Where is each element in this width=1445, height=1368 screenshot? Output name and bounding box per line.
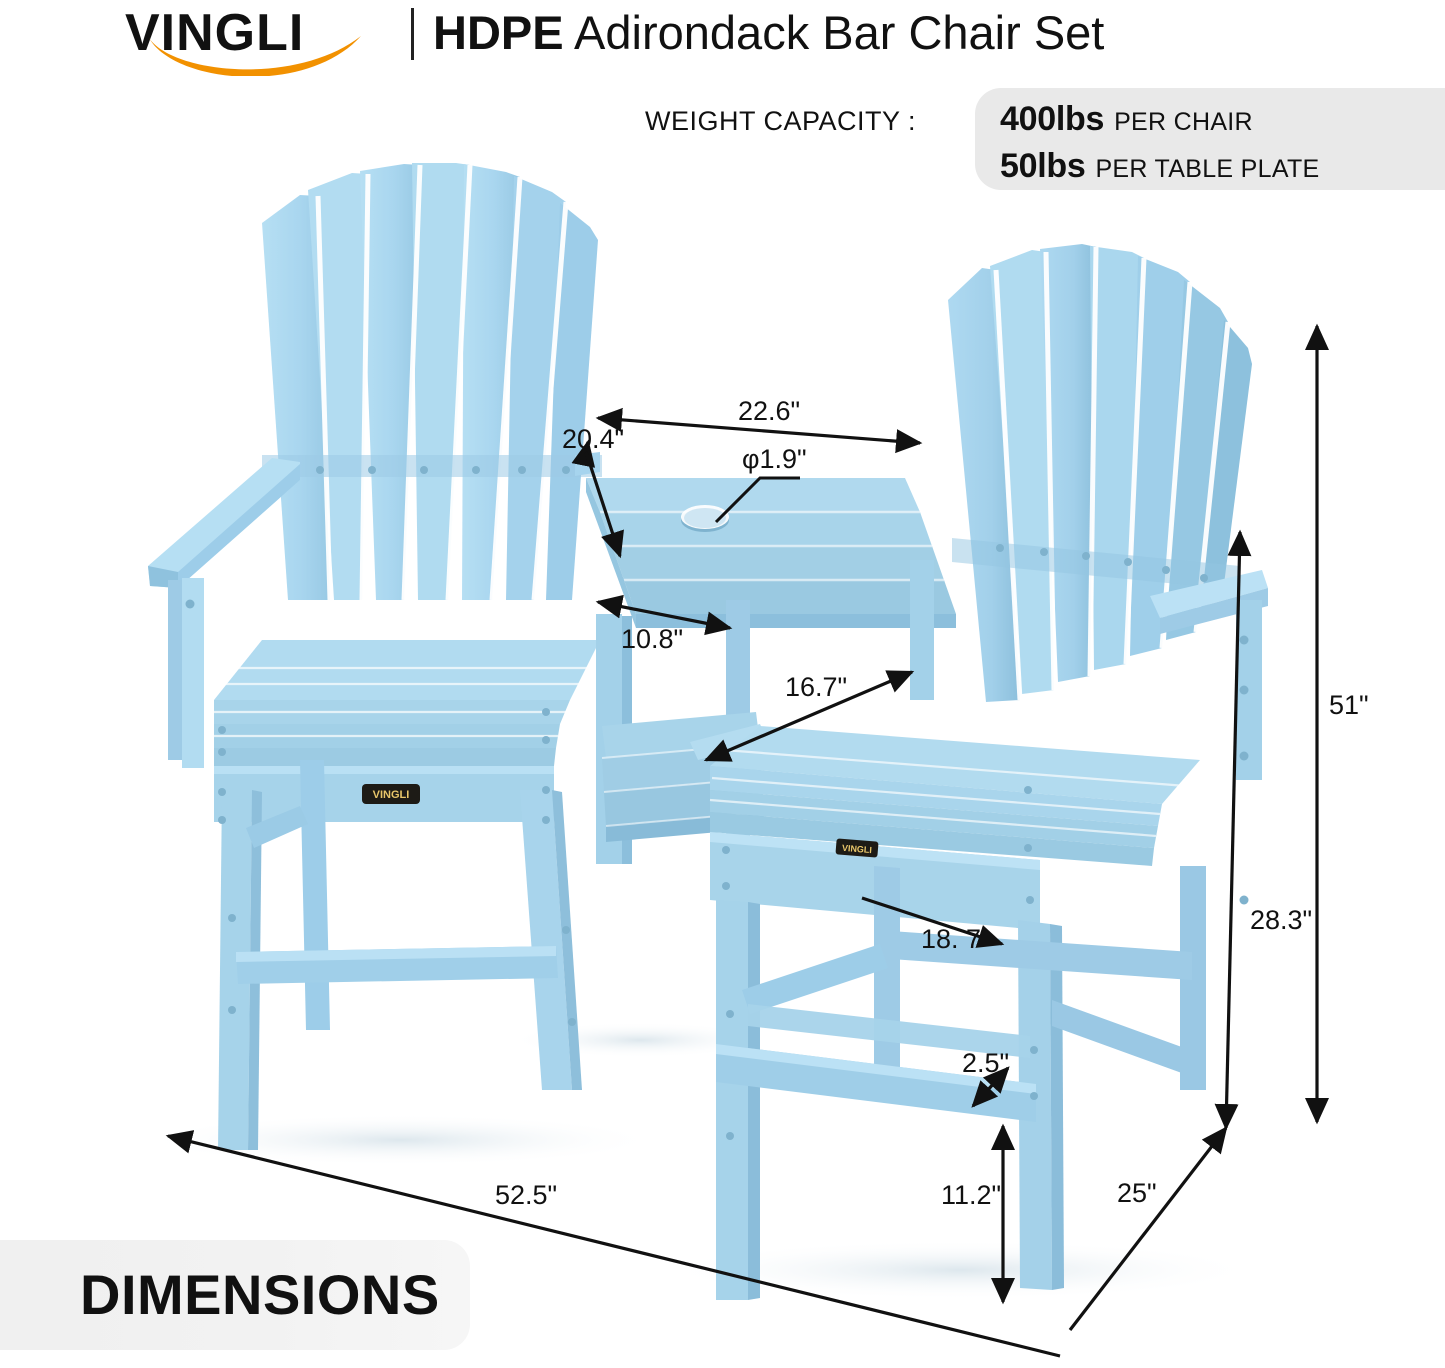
- left-chair-back-rail: [262, 455, 602, 477]
- right-chair-back-slats: [948, 244, 1252, 702]
- dim-label-footrest-thickness: 2.5": [962, 1048, 1009, 1079]
- dim-label-seat-height: 28.3": [1250, 905, 1312, 936]
- left-chair-back-slats: [262, 163, 598, 600]
- dimline-chair-depth: [1070, 1128, 1226, 1330]
- dimensions-banner-label: DIMENSIONS: [80, 1262, 440, 1327]
- left-chair-brand-badge-text: VINGLI: [373, 789, 410, 801]
- dim-label-table-width: 22.6": [738, 396, 800, 427]
- dim-label-seat-depth: 16.7": [785, 672, 847, 703]
- left-chair-seat-apron: VINGLI: [214, 766, 554, 822]
- dim-label-overall-height: 51": [1329, 690, 1369, 721]
- dim-label-chair-depth: 25": [1117, 1178, 1157, 1209]
- dim-label-table-depth: 20.4": [562, 424, 624, 455]
- dim-label-overall-width: 52.5": [495, 1180, 557, 1211]
- floor-shadow-left: [140, 1114, 660, 1166]
- left-chair-seat: [214, 640, 600, 766]
- left-chair-armrest-left: [148, 458, 300, 588]
- dim-label-footrest-height: 11.2": [941, 1180, 1001, 1211]
- dim-label-lower-shelf: 10.8": [621, 624, 683, 655]
- left-chair: VINGLI: [148, 163, 602, 1150]
- table-top: [586, 478, 956, 628]
- dimline-seat-height: [1226, 532, 1240, 1128]
- dim-label-cup-holder-diameter: φ1.9": [742, 444, 807, 475]
- product-illustration: VINGLI: [0, 0, 1445, 1368]
- product-svg: VINGLI: [0, 0, 1445, 1368]
- dim-label-seat-width: 18. 7: [921, 924, 981, 955]
